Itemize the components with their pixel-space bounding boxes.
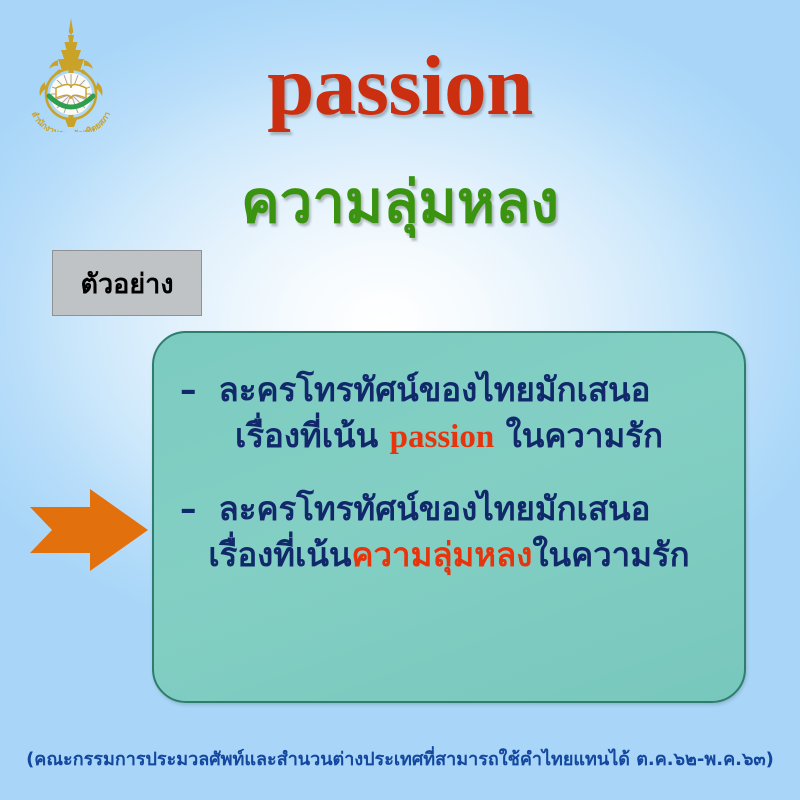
example-label-text: ตัวอย่าง	[80, 262, 173, 305]
statement-highlight-term: ความลุ่มหลง	[351, 535, 532, 574]
statement-line-1-text: ละครโทรทัศน์ของไทยมักเสนอ	[219, 370, 651, 409]
statement-line-1: –ละครโทรทัศน์ของไทยมักเสนอ	[180, 367, 718, 413]
example-statement: –ละครโทรทัศน์ของไทยมักเสนอ เรื่องที่เน้น…	[180, 367, 718, 460]
examples-panel: –ละครโทรทัศน์ของไทยมักเสนอ เรื่องที่เน้น…	[152, 331, 746, 703]
statement-line-1-text: ละครโทรทัศน์ของไทยมักเสนอ	[219, 489, 651, 528]
example-statement: –ละครโทรทัศน์ของไทยมักเสนอ เรื่องที่เน้น…	[180, 486, 718, 577]
bullet-dash: –	[180, 489, 219, 528]
statement-line-2-before: เรื่องที่เน้น	[208, 535, 351, 574]
source-attribution: (คณะกรรมการประมวลศัพท์และสำนวนต่างประเทศ…	[0, 744, 800, 773]
headword-thai: ความลุ่มหลง	[0, 166, 800, 239]
example-label-box: ตัวอย่าง	[52, 250, 202, 316]
headword-english: passion	[0, 44, 800, 129]
statement-line-2: เรื่องที่เน้นความลุ่มหลงในความรัก	[180, 532, 718, 578]
statement-line-2-after: ในความรัก	[494, 416, 663, 455]
slide-canvas: สำนักงานราชบัณฑิตยสภา passion ความลุ่มหล…	[0, 0, 800, 800]
statement-line-1: –ละครโทรทัศน์ของไทยมักเสนอ	[180, 486, 718, 532]
bullet-dash: –	[180, 370, 219, 409]
statement-line-2-before: เรื่องที่เน้น	[235, 416, 390, 455]
statement-line-2-after: ในความรัก	[532, 535, 689, 574]
statement-line-2: เรื่องที่เน้น passion ในความรัก	[180, 413, 718, 461]
right-arrow-icon	[28, 487, 150, 573]
statement-highlight-term: passion	[390, 419, 495, 455]
